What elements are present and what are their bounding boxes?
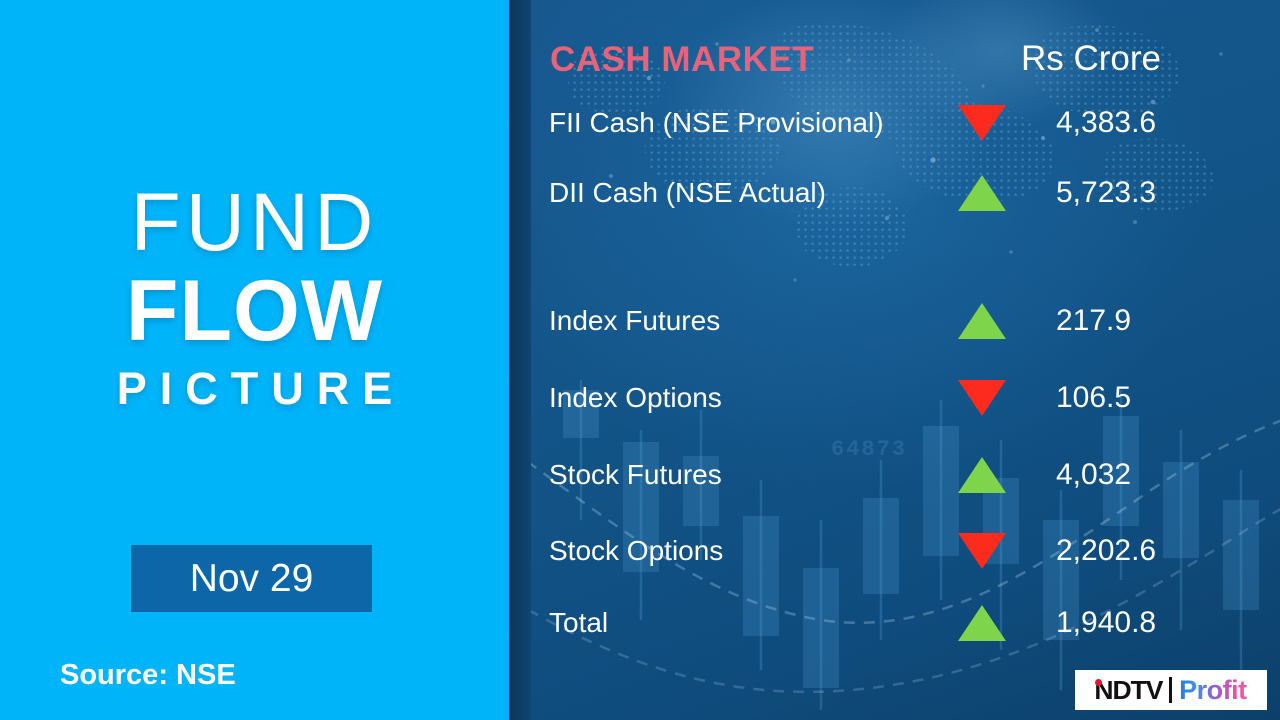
row-value: 4,032 — [1056, 458, 1131, 492]
row-label: DII Cash (NSE Actual) — [549, 177, 826, 209]
arrow-down-icon — [951, 101, 1013, 145]
arrow-up-icon — [951, 601, 1013, 645]
date-badge: Nov 29 — [131, 545, 372, 612]
arrow-down-icon — [951, 529, 1013, 573]
row-value: 2,202.6 — [1056, 534, 1156, 568]
infographic-canvas: 64873 CASH MARKET Rs Crore FII Cash (NSE… — [0, 0, 1280, 720]
table-row: DII Cash (NSE Actual) 5,723.3 — [531, 171, 1280, 215]
page-title: FUND FLOW PICTURE — [0, 182, 509, 411]
brand-line-fund: FUND — [0, 182, 509, 264]
row-label: Stock Options — [549, 535, 723, 567]
row-value: 1,940.8 — [1056, 606, 1156, 640]
table-row: Index Options 106.5 — [531, 376, 1280, 420]
logo-separator-bar — [1169, 677, 1172, 703]
title-panel: FUND FLOW PICTURE Nov 29 Source: NSE — [0, 0, 509, 720]
row-label: Total — [549, 607, 608, 639]
arrow-up-icon — [951, 299, 1013, 343]
arrow-up-icon — [951, 453, 1013, 497]
brand-line-flow: FLOW — [0, 268, 509, 354]
row-value: 5,723.3 — [1056, 176, 1156, 210]
table-row: Stock Futures 4,032 — [531, 453, 1280, 497]
logo-red-dot-icon — [1095, 679, 1102, 686]
row-value: 217.9 — [1056, 304, 1131, 338]
table-row: Stock Options 2,202.6 — [531, 529, 1280, 573]
source-label: Source: NSE — [60, 659, 236, 692]
row-value: 4,383.6 — [1056, 106, 1156, 140]
fund-flow-rows: FII Cash (NSE Provisional) 4,383.6 DII C… — [531, 0, 1280, 720]
row-label: Index Options — [549, 382, 722, 414]
panel-divider — [509, 0, 531, 720]
brand-line-picture: PICTURE — [0, 366, 509, 411]
table-row: FII Cash (NSE Provisional) 4,383.6 — [531, 101, 1280, 145]
logo-profit-text: Profit — [1179, 675, 1247, 706]
cash-market-panel: 64873 CASH MARKET Rs Crore FII Cash (NSE… — [531, 0, 1280, 720]
row-value: 106.5 — [1056, 381, 1131, 415]
row-label: FII Cash (NSE Provisional) — [549, 107, 884, 139]
ndtv-profit-logo: NDTV Profit — [1075, 670, 1267, 710]
row-label: Stock Futures — [549, 459, 722, 491]
arrow-down-icon — [951, 376, 1013, 420]
logo-ndtv-text: NDTV — [1095, 675, 1163, 706]
table-row: Index Futures 217.9 — [531, 299, 1280, 343]
arrow-up-icon — [951, 171, 1013, 215]
row-label: Index Futures — [549, 305, 720, 337]
table-row: Total 1,940.8 — [531, 601, 1280, 645]
